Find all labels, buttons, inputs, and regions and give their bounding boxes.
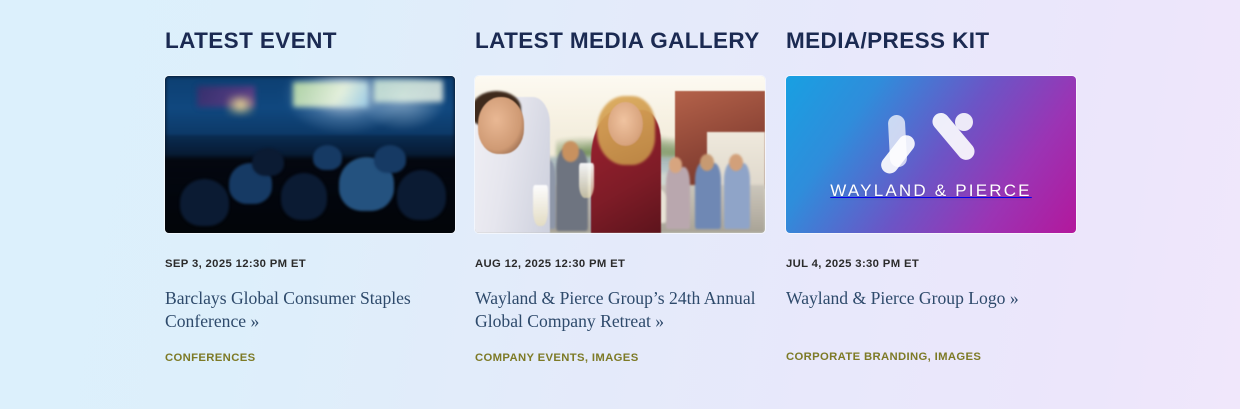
gallery-tags[interactable]: COMPANY EVENTS, IMAGES: [475, 352, 765, 364]
section-heading-latest-event: LATEST EVENT: [165, 30, 455, 53]
audience-head: [180, 179, 229, 226]
media-press-kit-thumbnail[interactable]: WAYLAND & PIERCE: [786, 76, 1076, 233]
section-heading-latest-media-gallery: LATEST MEDIA GALLERY: [475, 30, 765, 53]
press-kit-tags[interactable]: CORPORATE BRANDING, IMAGES: [786, 351, 1076, 363]
latest-event-link[interactable]: Barclays Global Consumer Staples Confere…: [165, 287, 455, 333]
latest-event-thumbnail[interactable]: [165, 76, 455, 233]
audience-head: [313, 145, 342, 170]
media-press-kit-link[interactable]: Wayland & Pierce Group Logo »: [786, 287, 1076, 310]
logo-dot: [955, 113, 973, 131]
guest-figure: [695, 163, 721, 229]
wayland-pierce-logo-icon: [883, 107, 979, 171]
champagne-glass: [579, 163, 594, 198]
gallery-date: AUG 12, 2025 12:30 PM ET: [475, 258, 765, 270]
latest-media-gallery-column: LATEST MEDIA GALLERY: [475, 30, 765, 364]
section-heading-media-press-kit: MEDIA/PRESS KIT: [786, 30, 1076, 53]
event-date: SEP 3, 2025 12:30 PM ET: [165, 258, 455, 270]
stage-screen-left: [293, 82, 368, 107]
media-highlights-section: LATEST EVENT SEP 3, 2025 12:30 PM ET Bar…: [0, 0, 1240, 409]
latest-event-column: LATEST EVENT SEP 3, 2025 12:30 PM ET Bar…: [165, 30, 455, 364]
latest-media-gallery-link[interactable]: Wayland & Pierce Group’s 24th Annual Glo…: [475, 287, 765, 333]
audience-head: [397, 170, 446, 220]
stage-light: [226, 94, 255, 116]
audience-head: [252, 148, 284, 176]
logo-left-chevron-stroke: [878, 132, 918, 177]
press-kit-date: JUL 4, 2025 3:30 PM ET: [786, 258, 1076, 270]
stage-screen-right: [374, 80, 444, 102]
latest-media-gallery-thumbnail[interactable]: [475, 76, 765, 233]
guest-figure: [666, 167, 689, 230]
logo-wordmark: WAYLAND & PIERCE: [830, 181, 1031, 201]
event-tags[interactable]: CONFERENCES: [165, 352, 455, 364]
man-head: [478, 97, 524, 154]
media-press-kit-column: MEDIA/PRESS KIT WAYLAND & PIERCE JUL 4, …: [786, 30, 1076, 363]
audience-head: [374, 145, 406, 173]
audience-head: [281, 173, 327, 220]
guest-figure: [724, 163, 750, 229]
champagne-glass: [533, 185, 548, 226]
